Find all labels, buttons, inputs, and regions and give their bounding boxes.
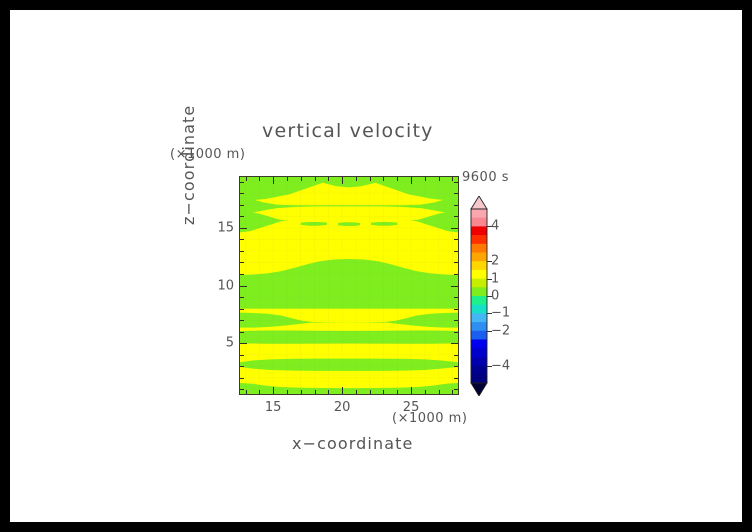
page-title: vertical velocity — [262, 120, 434, 142]
x-axis-tick — [246, 177, 247, 181]
y-axis-tick — [240, 389, 244, 390]
x-axis-tick — [287, 390, 288, 394]
colorbar-segment-8 — [471, 279, 487, 288]
y-axis-tick — [240, 251, 244, 252]
y-axis-tick — [454, 216, 458, 217]
colorbar-segment-9 — [471, 287, 487, 296]
y-axis-tick — [240, 366, 244, 367]
colorbar-segment-19 — [471, 374, 487, 383]
x-tick-label-20: 20 — [334, 400, 351, 415]
x-axis-tick — [259, 177, 260, 181]
x-axis-tick — [259, 390, 260, 394]
colorbar-segment-11 — [471, 305, 487, 314]
y-axis-tick — [240, 332, 244, 333]
y-axis-title: z−coordinate — [179, 105, 198, 225]
contour-band-10 — [240, 359, 458, 371]
y-axis-tick — [454, 239, 458, 240]
colorbar-tick-label-0: 4 — [491, 219, 499, 234]
x-axis-tick — [301, 390, 302, 394]
x-axis-tick — [273, 387, 274, 394]
y-axis-tick — [454, 274, 458, 275]
colorbar-segment-10 — [471, 296, 487, 305]
y-axis-tick — [454, 193, 458, 194]
colorbar-segment-2 — [471, 226, 487, 235]
y-axis-tick — [240, 378, 244, 379]
figure-frame: vertical velocity (×1000 m) 9600 s (×100… — [0, 0, 752, 532]
y-axis-tick — [240, 320, 244, 321]
y-axis-tick — [240, 193, 244, 194]
colorbar-segment-13 — [471, 322, 487, 331]
y-axis-tick — [240, 228, 247, 229]
contour-band-5 — [338, 222, 360, 226]
contour-band-9 — [240, 331, 458, 344]
y-axis-tick — [454, 251, 458, 252]
y-axis-tick — [454, 355, 458, 356]
colorbar-tick-label-2: 1 — [491, 271, 499, 286]
colorbar-segment-5 — [471, 253, 487, 262]
x-axis-tick — [328, 177, 329, 181]
y-axis-tick — [454, 309, 458, 310]
y-axis-tick — [454, 378, 458, 379]
colorbar-segment-16 — [471, 348, 487, 357]
y-axis-tick — [240, 262, 244, 263]
y-axis-tick — [240, 216, 244, 217]
x-axis-tick — [370, 177, 371, 181]
figure-canvas: vertical velocity (×1000 m) 9600 s (×100… — [10, 10, 742, 522]
x-tick-label-15: 15 — [265, 400, 282, 415]
colorbar-segment-12 — [471, 313, 487, 322]
y-tick-label-10: 10 — [206, 278, 234, 293]
x-axis-tick — [356, 177, 357, 181]
x-axis-tick — [287, 177, 288, 181]
colorbar-under-arrow — [471, 383, 487, 396]
y-axis-tick — [454, 262, 458, 263]
x-axis-tick — [246, 390, 247, 394]
colorbar-segment-14 — [471, 331, 487, 340]
colorbar-tick-label-3: 0 — [491, 289, 499, 304]
y-tick-label-15: 15 — [206, 220, 234, 235]
colorbar-segment-0 — [471, 209, 487, 218]
y-axis-tick — [451, 343, 458, 344]
x-axis-tick — [383, 390, 384, 394]
colorbar-segment-1 — [471, 218, 487, 227]
x-axis-tick — [370, 390, 371, 394]
y-axis-tick — [240, 274, 244, 275]
x-axis-tick — [452, 177, 453, 181]
y-axis-tick — [240, 297, 244, 298]
contour-plot-area — [240, 177, 458, 394]
x-axis-tick — [315, 390, 316, 394]
contour-band-6 — [371, 222, 397, 226]
x-axis-tick — [439, 177, 440, 181]
x-axis-tick — [397, 390, 398, 394]
x-axis-tick — [273, 177, 274, 184]
y-axis-tick — [240, 343, 247, 344]
y-axis-tick — [454, 366, 458, 367]
y-axis-tick — [454, 205, 458, 206]
x-axis-tick — [425, 177, 426, 181]
y-axis-tick — [454, 297, 458, 298]
y-axis-tick — [454, 320, 458, 321]
y-axis-tick — [240, 205, 244, 206]
x-axis-tick — [301, 177, 302, 181]
colorbar-segment-17 — [471, 357, 487, 366]
colorbar-tick-label-6: −4 — [491, 358, 510, 373]
x-axis-tick — [356, 390, 357, 394]
x-axis-tick — [342, 387, 343, 394]
x-axis-tick — [383, 177, 384, 181]
colorbar-over-arrow — [471, 196, 487, 209]
colorbar-segment-6 — [471, 261, 487, 270]
colorbar-segment-18 — [471, 366, 487, 375]
colorbar-tick-label-4: −1 — [491, 306, 510, 321]
y-axis-tick — [454, 182, 458, 183]
colorbar-segment-7 — [471, 270, 487, 279]
x-axis-tick — [411, 387, 412, 394]
x-tick-label-25: 25 — [403, 400, 420, 415]
y-axis-tick — [240, 355, 244, 356]
x-axis-tick — [342, 177, 343, 184]
y-axis-tick — [240, 309, 244, 310]
colorbar-tick-label-5: −2 — [491, 323, 510, 338]
x-axis-title: x−coordinate — [292, 434, 413, 453]
colorbar-segment-15 — [471, 340, 487, 349]
x-axis-tick — [425, 390, 426, 394]
y-tick-label-5: 5 — [206, 336, 234, 351]
x-axis-tick — [439, 390, 440, 394]
y-axis-tick — [240, 182, 244, 183]
colorbar-segment-3 — [471, 235, 487, 244]
y-axis-tick — [454, 332, 458, 333]
time-stamp-label: 9600 s — [462, 170, 509, 185]
y-axis-tick — [240, 239, 244, 240]
x-axis-tick — [452, 390, 453, 394]
colorbar-segment-4 — [471, 244, 487, 253]
colorbar-tick-label-1: 2 — [491, 254, 499, 269]
contour-band-4 — [301, 222, 327, 226]
x-axis-tick — [397, 177, 398, 181]
y-axis-tick — [451, 228, 458, 229]
x-axis-tick — [315, 177, 316, 181]
y-axis-tick — [240, 286, 247, 287]
x-axis-tick — [328, 390, 329, 394]
y-axis-tick — [451, 286, 458, 287]
y-axis-tick — [454, 389, 458, 390]
x-axis-tick — [411, 177, 412, 184]
contour-field — [240, 177, 458, 394]
